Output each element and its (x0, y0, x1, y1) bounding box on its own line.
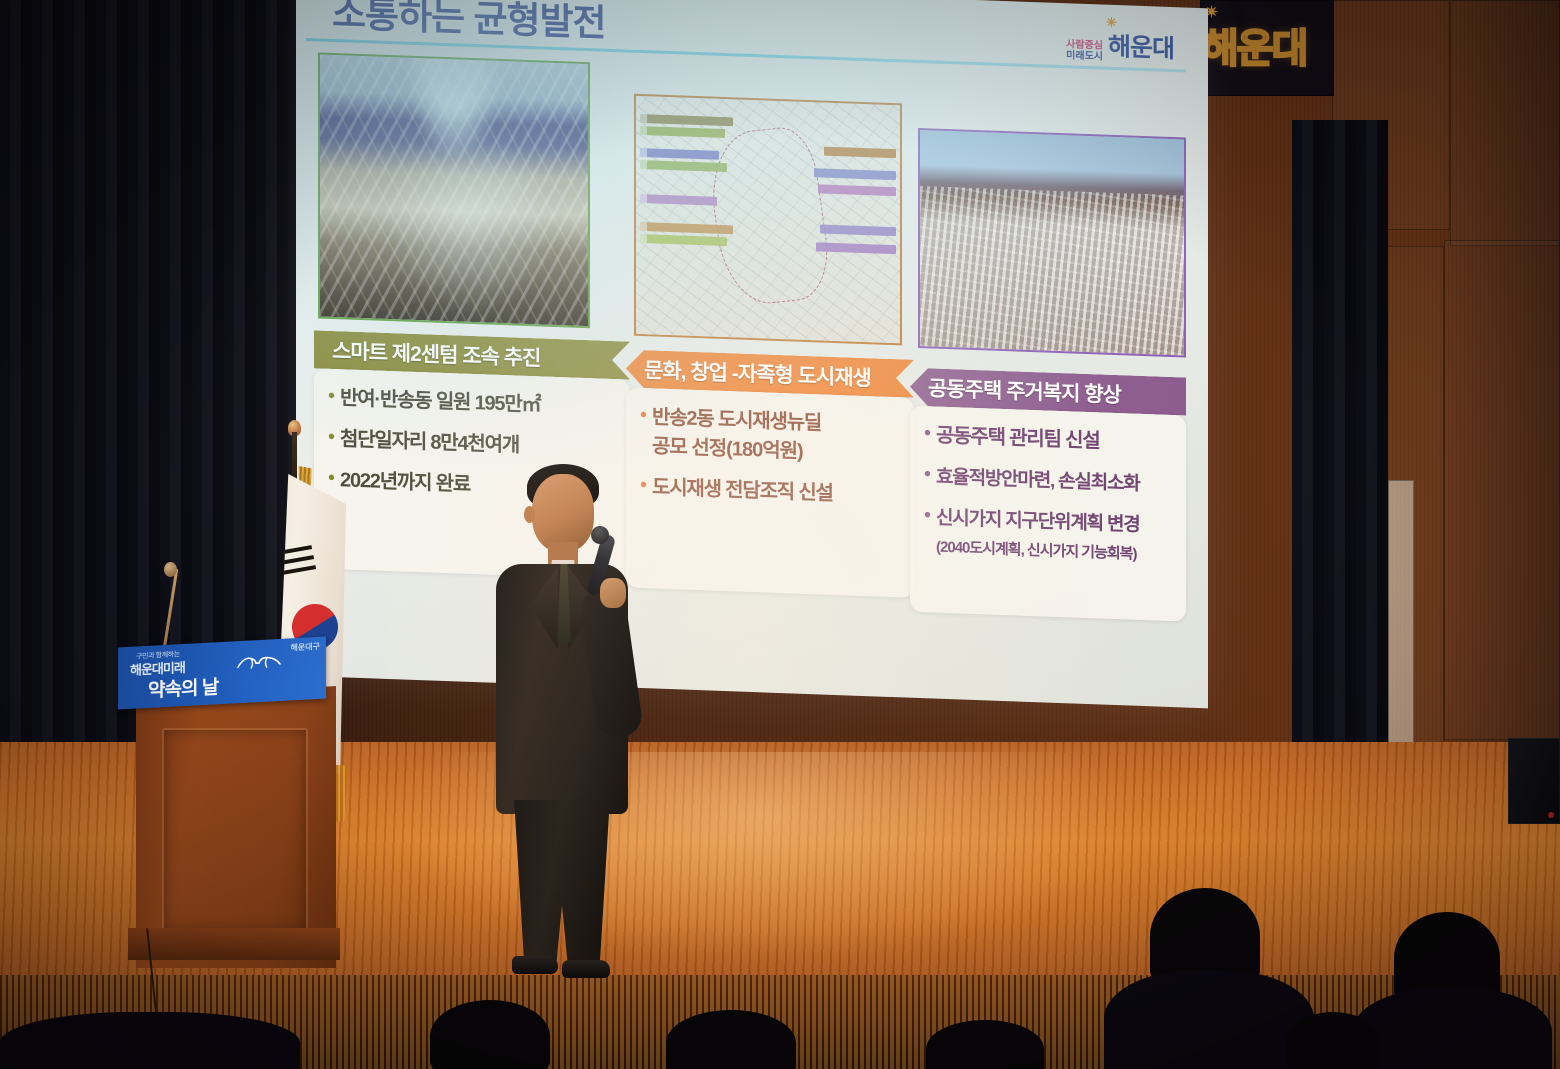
bullet-text: 효율적방안마련, 손실최소화 (936, 464, 1140, 498)
slide-image-smart-centum (318, 52, 590, 328)
podium-sign-logo-mark: 해운대구 (291, 641, 320, 654)
auditorium-presentation-photo: 부산의 중심 ✷ 해운대 소통하는 균형발전 사람중심 미래도시 ✳ 해운대 (0, 0, 1560, 1069)
slide-brand-logo: 사람중심 미래도시 ✳ 해운대 (1066, 25, 1174, 65)
bullet-dot-icon: • (924, 504, 931, 526)
podium-sign-line3: 약속의 날 (148, 672, 218, 703)
bullet-item: • 도시재생 전담조직 신설 (640, 474, 902, 510)
audience-head (430, 1000, 550, 1069)
bullet-dot-icon: • (924, 463, 931, 485)
pinky-promise-icon (236, 649, 282, 677)
bullet-text-sub: (2040도시계획, 신시가지 기능회복) (936, 534, 1140, 568)
audience-shoulders (1352, 988, 1552, 1069)
presenter-ear (524, 506, 535, 523)
audience-head (926, 1020, 1044, 1069)
slide-card-3: • 공동주택 관리팀 신설 • 효율적방안마련, 손실최소화 • 신시가지 지구… (910, 406, 1186, 622)
presenter-head (532, 474, 594, 552)
bullet-item: • 반송2동 도시재생뉴딜 공모 선정(180억원) (640, 404, 902, 469)
bullet-text: 도시재생 전담조직 신설 (652, 474, 833, 507)
bullet-item: • 신시가지 지구단위계획 변경 (2040도시계획, 신시가지 기능회복) (924, 504, 1174, 569)
brand-name: ✳ 해운대 (1108, 27, 1174, 65)
bullet-text: 첨단일자리 8만4천여개 (340, 426, 519, 459)
audience-head (666, 1010, 796, 1069)
slide-image-regeneration-map (634, 94, 902, 346)
bullet-dot-icon: • (924, 422, 931, 444)
slide-image-apartment-district (918, 128, 1186, 358)
brand-tagline: 사람중심 미래도시 (1066, 39, 1103, 62)
presenter-trousers (510, 800, 614, 970)
bullet-text: 공동주택 관리팀 신설 (936, 423, 1100, 456)
bullet-text-sub: 공모 선정(180억원) (652, 433, 821, 466)
slide-card-2: • 반송2동 도시재생뉴딜 공모 선정(180억원) • 도시재생 전담조직 신… (626, 387, 914, 597)
bullet-item: • 효율적방안마련, 손실최소화 (924, 463, 1174, 499)
trigram-bar (278, 545, 312, 555)
bullet-item: • 첨단일자리 8만4천여개 (328, 426, 618, 463)
pa-speaker-cabinet (1508, 738, 1560, 824)
bullet-item: • 공동주택 관리팀 신설 (924, 422, 1174, 458)
podium-panel-inset (162, 728, 308, 932)
bullet-list-3: • 공동주택 관리팀 신설 • 효율적방안마련, 손실최소화 • 신시가지 지구… (910, 406, 1186, 622)
bullet-item: • 반여·반송동 일원 195만㎡ (328, 385, 618, 422)
presenter-shoe-right (562, 960, 610, 978)
microphone-head-icon (164, 562, 177, 577)
city-3d-model (920, 130, 1184, 355)
plan-map (636, 96, 900, 343)
bullet-text: 2022년까지 완료 (340, 467, 470, 499)
projection-screen: 소통하는 균형발전 사람중심 미래도시 ✳ 해운대 (296, 0, 1208, 708)
lectern-podium: 구민과 함께하는 해운대미래 약속의 날 해운대구 (118, 628, 346, 968)
speaker-led-icon (1548, 812, 1554, 818)
bullet-text-main: 신시가지 지구단위계획 변경 (936, 508, 1140, 536)
podium-event-sign: 구민과 함께하는 해운대미래 약속의 날 해운대구 (118, 637, 326, 710)
audience-shoulders (1104, 970, 1314, 1069)
bullet-dot-icon: • (640, 404, 647, 426)
presenter-shoe-left (512, 956, 558, 974)
podium-base (128, 928, 340, 960)
brand-spark-icon: ✳ (1106, 15, 1116, 31)
bullet-dot-icon: • (328, 385, 335, 407)
audience-head (1286, 1012, 1380, 1069)
wall-logo-text: 해운대 (1202, 16, 1306, 74)
bullet-text: 반여·반송동 일원 195만㎡ (340, 385, 540, 419)
brand-name-text: 해운대 (1108, 33, 1174, 63)
bullet-text: 신시가지 지구단위계획 변경 (2040도시계획, 신시가지 기능회복) (936, 505, 1140, 568)
stage-curtain-right-dark (1292, 120, 1388, 760)
wall-panel-seam (1450, 0, 1560, 246)
presenter-person (470, 460, 650, 980)
presenter-hand (600, 578, 626, 608)
door-gap-light (1388, 480, 1414, 760)
bullet-text-main: 반송2동 도시재생뉴딜 (652, 406, 821, 434)
brand-tagline-line2: 미래도시 (1066, 50, 1103, 62)
trigram-bar (282, 565, 316, 575)
wall-panel-seam (1444, 240, 1560, 740)
audience-shoulders (0, 1012, 300, 1069)
bullet-list-2: • 반송2동 도시재생뉴딜 공모 선정(180억원) • 도시재생 전담조직 신… (626, 387, 914, 597)
aerial-city-render (320, 55, 588, 327)
trigram-bar (280, 555, 314, 565)
bullet-text: 반송2동 도시재생뉴딜 공모 선정(180억원) (652, 404, 821, 466)
